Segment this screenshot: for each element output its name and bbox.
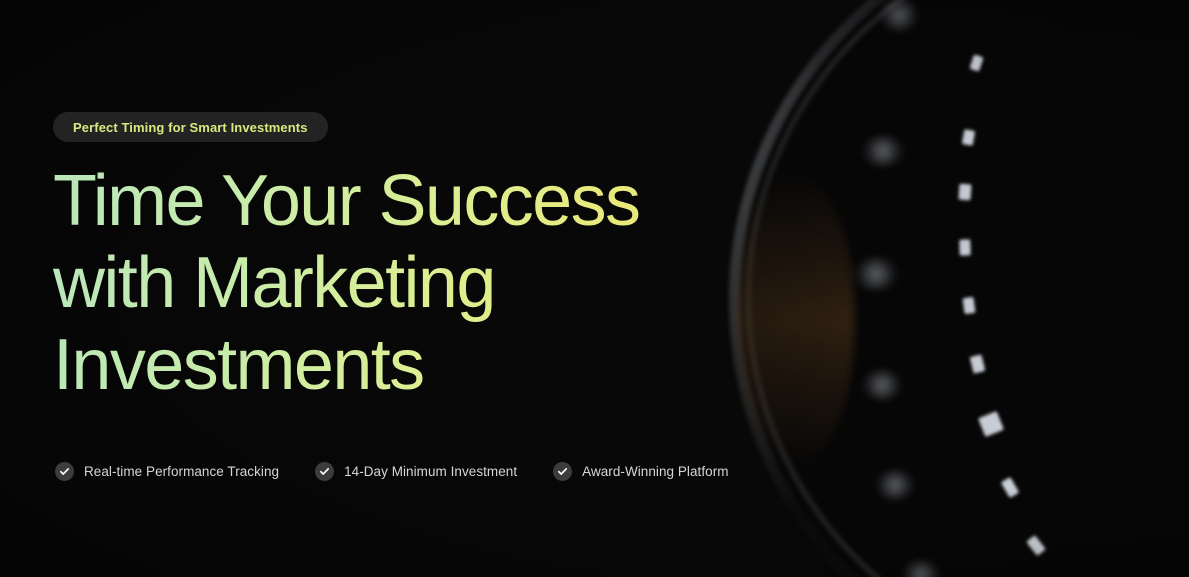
hero-section: 9 8 7 Perfect Timing for Smart Investmen…: [0, 0, 1189, 577]
hero-content: Perfect Timing for Smart Investments Tim…: [53, 0, 813, 577]
feature-item-label: Real-time Performance Tracking: [84, 464, 279, 479]
check-circle-icon: [553, 462, 572, 481]
feature-item: Award-Winning Platform: [553, 462, 728, 481]
feature-item-label: 14-Day Minimum Investment: [344, 464, 517, 479]
feature-list: Real-time Performance Tracking 14-Day Mi…: [55, 462, 729, 481]
check-circle-icon: [55, 462, 74, 481]
eyebrow-badge: Perfect Timing for Smart Investments: [53, 112, 328, 142]
check-circle-icon: [315, 462, 334, 481]
feature-item: 14-Day Minimum Investment: [315, 462, 517, 481]
feature-item: Real-time Performance Tracking: [55, 462, 279, 481]
eyebrow-badge-label: Perfect Timing for Smart Investments: [73, 120, 308, 135]
feature-item-label: Award-Winning Platform: [582, 464, 728, 479]
page-title: Time Your Success with Marketing Investm…: [53, 160, 773, 406]
